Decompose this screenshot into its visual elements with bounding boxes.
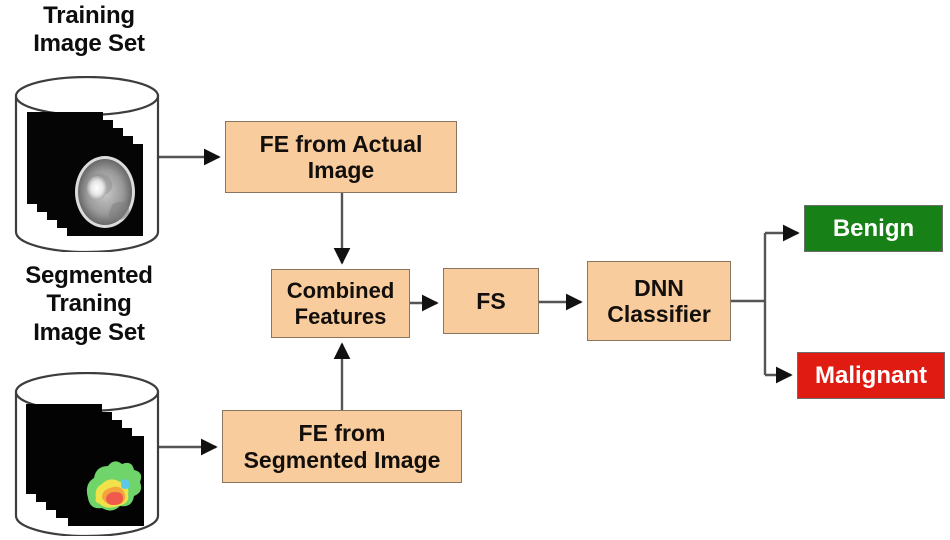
outcome-box-benign[interactable]: Benign [804, 205, 943, 252]
segmented-training-image-set-title: Segmented Traning Image Set [0, 262, 178, 347]
process-box-fe-from-segmented-image[interactable]: FE from Segmented Image [222, 410, 462, 483]
segmented-tumor-image-stack [26, 404, 146, 526]
outcome-box-malignant[interactable]: Malignant [797, 352, 945, 399]
flowchart-diagram: Training Image Set [0, 0, 950, 540]
process-box-combined-features[interactable]: Combined Features [271, 269, 410, 338]
process-box-dnn-classifier[interactable]: DNN Classifier [587, 261, 731, 341]
mri-brain-image-stack [27, 112, 145, 238]
training-image-set-title: Training Image Set [0, 2, 178, 59]
connector-dnn-branch-trunk [731, 233, 765, 375]
process-box-fe-from-actual-image[interactable]: FE from Actual Image [225, 121, 457, 193]
process-box-fs[interactable]: FS [443, 268, 539, 334]
